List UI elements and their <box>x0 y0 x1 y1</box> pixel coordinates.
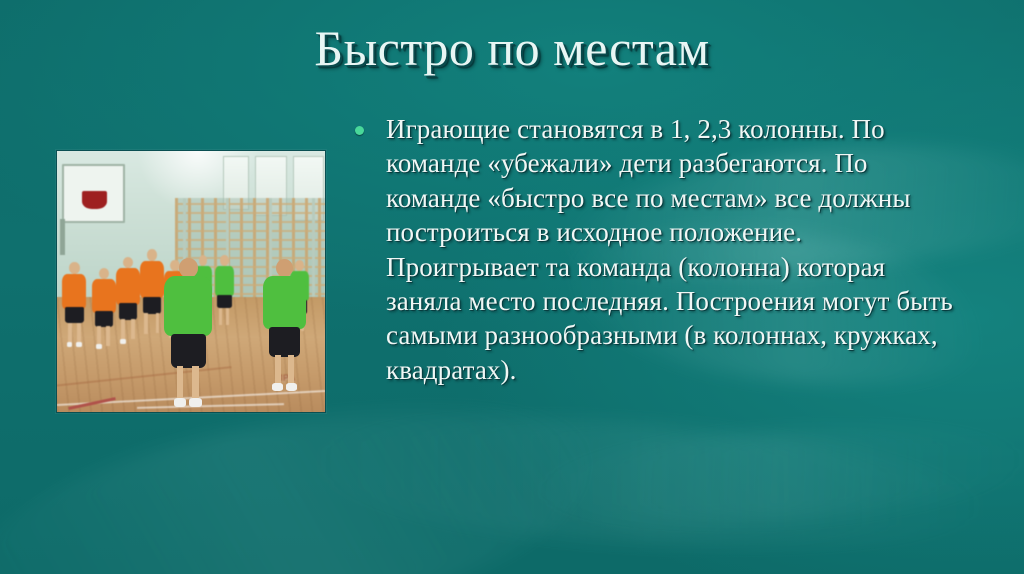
child-leg <box>288 355 294 385</box>
child-figure-foreground <box>164 276 212 407</box>
child-shoe <box>120 339 126 344</box>
bullet-list: Играющие становятся в 1, 2,3 колонны. По… <box>355 112 955 387</box>
child-shorts <box>65 307 83 323</box>
child-shirt <box>92 279 116 313</box>
child-shirt <box>62 274 86 309</box>
child-leg <box>192 366 199 400</box>
child-head <box>179 258 198 278</box>
child-leg <box>219 308 222 326</box>
slide-title: Быстро по местам <box>0 22 1024 75</box>
child-leg <box>131 319 135 339</box>
child-figure <box>92 279 116 349</box>
gym-photo: ПРА <box>56 150 326 413</box>
child-shorts <box>171 334 206 368</box>
gym-photo-image: ПРА <box>57 151 325 412</box>
child-leg <box>275 355 281 385</box>
child-shoe <box>286 383 297 391</box>
child-shoe <box>174 398 187 407</box>
child-leg <box>77 323 81 343</box>
child-shirt <box>140 261 164 299</box>
child-head <box>69 262 80 274</box>
child-leg <box>156 313 160 333</box>
bullet-text: Играющие становятся в 1, 2,3 колонны. По… <box>386 112 955 387</box>
child-shorts <box>269 327 300 357</box>
wall-bar-divider <box>312 198 315 313</box>
child-shorts <box>119 303 137 320</box>
child-leg <box>106 326 110 346</box>
child-figure <box>140 261 164 339</box>
child-leg <box>226 308 229 326</box>
child-shoe <box>189 398 202 407</box>
child-figure <box>62 274 86 347</box>
child-shirt <box>116 268 140 304</box>
child-shirt <box>215 266 234 296</box>
child-shorts <box>217 295 231 309</box>
backboard-post <box>60 219 65 256</box>
child-shoe <box>96 344 102 349</box>
child-figure-foreground <box>263 276 306 391</box>
child-head <box>99 268 110 279</box>
child-shorts <box>95 311 113 327</box>
bullet-point-icon <box>355 126 364 135</box>
child-head <box>147 249 158 261</box>
child-figure <box>215 266 234 329</box>
child-leg <box>144 313 148 334</box>
child-shorts <box>143 297 161 314</box>
child-leg <box>97 326 101 346</box>
presentation-slide: Быстро по местам <box>0 0 1024 574</box>
child-shoe <box>272 383 283 391</box>
child-head <box>295 260 303 271</box>
child-leg <box>121 319 125 340</box>
child-head <box>220 255 228 266</box>
child-shirt <box>164 276 212 336</box>
child-leg <box>68 323 72 343</box>
child-shirt <box>263 276 306 329</box>
child-shoe <box>67 342 73 347</box>
child-head <box>199 255 207 266</box>
child-figure <box>116 268 140 344</box>
basketball-backboard-icon <box>62 164 125 223</box>
basketball-hoop-icon <box>82 191 107 210</box>
child-shoe <box>76 342 82 347</box>
child-leg <box>177 366 184 400</box>
